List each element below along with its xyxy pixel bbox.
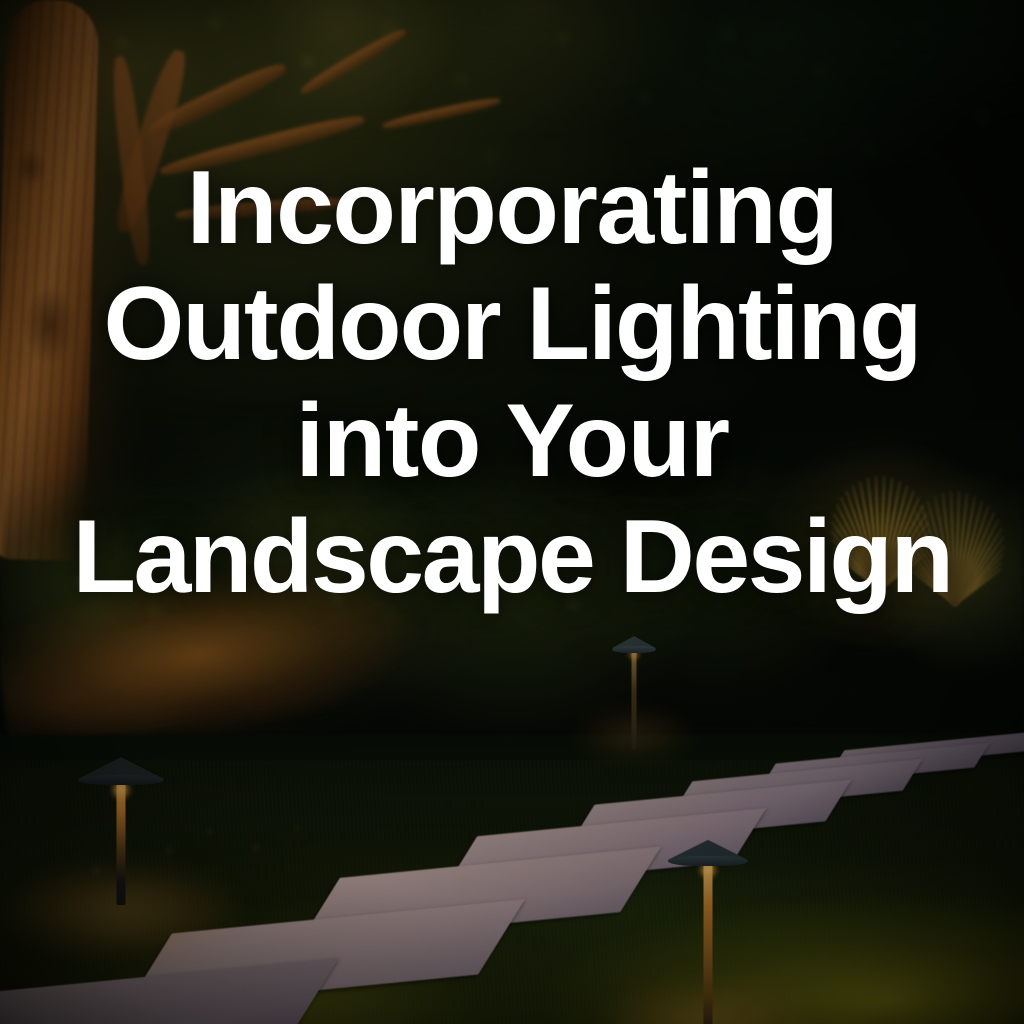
fixture-stem xyxy=(704,864,713,1024)
headline-title: Incorporating Outdoor Lighting into Your… xyxy=(0,150,1024,616)
path-light-foreground-left xyxy=(78,745,164,905)
fixture-hat-rim xyxy=(612,646,656,653)
path-light-lawn-right xyxy=(668,830,748,1024)
headline-line-4: Landscape Design xyxy=(26,499,998,615)
fixture-hat-rim xyxy=(78,775,164,785)
fixture-stem xyxy=(632,652,637,750)
path-light-distant xyxy=(612,630,656,750)
fixture-hat-rim xyxy=(668,856,748,866)
headline-line-3: into Your xyxy=(26,383,998,499)
hero-banner: Incorporating Outdoor Lighting into Your… xyxy=(0,0,1024,1024)
headline-line-2: Outdoor Lighting xyxy=(26,266,998,382)
fixture-stem xyxy=(117,783,126,905)
headline-line-1: Incorporating xyxy=(26,150,998,266)
